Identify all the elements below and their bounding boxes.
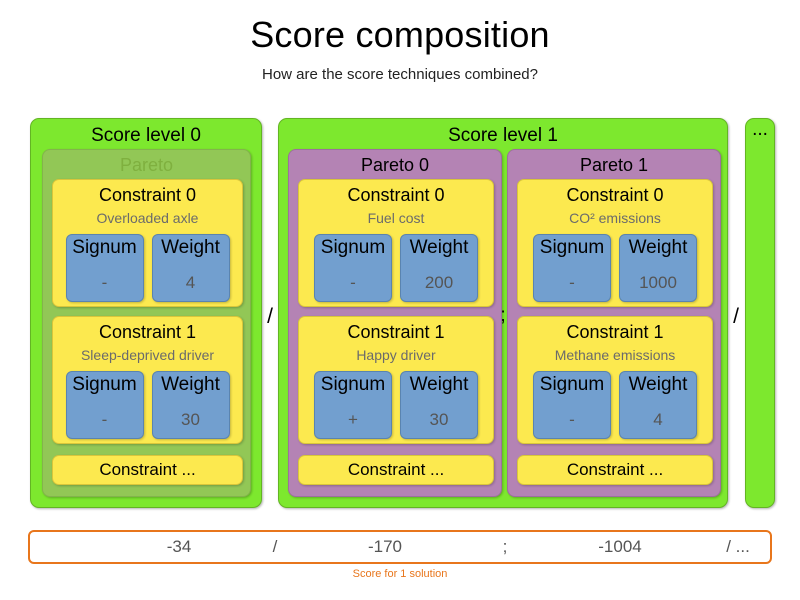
score-operator-1: / (255, 532, 295, 562)
pareto-group-title: Pareto (43, 150, 250, 177)
constraint-more-label: Constraint ... (518, 456, 712, 481)
weight-value: 30 (430, 410, 449, 430)
signum-chip[interactable]: Signum - (66, 234, 144, 302)
constraint-more-card[interactable]: Constraint ... (517, 455, 713, 485)
constraint-name: Constraint 0 (518, 180, 712, 206)
weight-chip[interactable]: Weight 30 (152, 371, 230, 439)
signum-label: Signum (72, 372, 136, 397)
constraint-description: CO² emissions (518, 206, 712, 227)
score-level-more-title: ... (746, 119, 774, 148)
level-separator-trailing: / (727, 305, 745, 329)
constraint-more-label: Constraint ... (53, 456, 242, 481)
constraint-card[interactable]: Constraint 1 Methane emissions Signum - … (517, 316, 713, 444)
pareto-separator: ; (494, 305, 512, 327)
constraint-chips: Signum - Weight 4 (518, 371, 712, 439)
score-value-2: -1004 (560, 532, 680, 562)
weight-label: Weight (161, 372, 220, 397)
constraint-chips: Signum - Weight 4 (53, 234, 242, 302)
weight-label: Weight (410, 372, 469, 397)
signum-chip[interactable]: Signum - (533, 371, 611, 439)
constraint-name: Constraint 1 (53, 317, 242, 343)
constraint-name: Constraint 0 (299, 180, 493, 206)
pareto-group-0[interactable]: Pareto 0 Constraint 0 Fuel cost Signum -… (288, 149, 502, 497)
level-separator: / (261, 305, 279, 329)
constraint-more-label: Constraint ... (299, 456, 493, 481)
score-value-0: -34 (124, 532, 234, 562)
signum-value: - (350, 273, 356, 293)
constraint-description: Fuel cost (299, 206, 493, 227)
constraint-chips: Signum - Weight 200 (299, 234, 493, 302)
signum-value: - (102, 273, 108, 293)
constraint-name: Constraint 1 (299, 317, 493, 343)
page-title: Score composition (0, 14, 800, 56)
constraint-card[interactable]: Constraint 0 CO² emissions Signum - Weig… (517, 179, 713, 307)
score-level-1-title: Score level 1 (279, 119, 727, 148)
constraint-card[interactable]: Constraint 0 Overloaded axle Signum - We… (52, 179, 243, 307)
weight-value: 4 (653, 410, 662, 430)
signum-label: Signum (540, 372, 604, 397)
weight-chip[interactable]: Weight 200 (400, 234, 478, 302)
score-operator-2: ; (490, 532, 520, 562)
signum-value: - (102, 410, 108, 430)
weight-chip[interactable]: Weight 4 (152, 234, 230, 302)
constraint-name: Constraint 0 (53, 180, 242, 206)
score-bar-caption: Score for 1 solution (0, 568, 800, 580)
pareto-group-1[interactable]: Pareto 1 Constraint 0 CO² emissions Sign… (507, 149, 721, 497)
constraint-description: Happy driver (299, 343, 493, 364)
weight-value: 200 (425, 273, 453, 293)
constraint-chips: Signum - Weight 30 (53, 371, 242, 439)
signum-chip[interactable]: Signum - (66, 371, 144, 439)
signum-value: - (569, 273, 575, 293)
weight-label: Weight (410, 235, 469, 260)
score-bar[interactable]: -34 / -170 ; -1004 / ... (28, 530, 772, 564)
signum-value: + (348, 410, 358, 430)
pareto-group-disabled[interactable]: Pareto Constraint 0 Overloaded axle Sign… (42, 149, 251, 497)
signum-chip[interactable]: Signum - (533, 234, 611, 302)
weight-chip[interactable]: Weight 1000 (619, 234, 697, 302)
weight-label: Weight (629, 372, 688, 397)
constraint-more-card[interactable]: Constraint ... (52, 455, 243, 485)
weight-value: 30 (181, 410, 200, 430)
signum-label: Signum (321, 372, 385, 397)
constraint-description: Overloaded axle (53, 206, 242, 227)
constraint-chips: Signum + Weight 30 (299, 371, 493, 439)
signum-label: Signum (72, 235, 136, 260)
signum-label: Signum (321, 235, 385, 260)
pareto-group-title: Pareto 1 (508, 150, 720, 177)
weight-value: 1000 (639, 273, 677, 293)
score-level-0-panel[interactable]: Score level 0 Pareto Constraint 0 Overlo… (30, 118, 262, 508)
constraint-card[interactable]: Constraint 1 Sleep-deprived driver Signu… (52, 316, 243, 444)
signum-label: Signum (540, 235, 604, 260)
score-value-1: -170 (330, 532, 440, 562)
weight-label: Weight (629, 235, 688, 260)
weight-chip[interactable]: Weight 30 (400, 371, 478, 439)
signum-chip[interactable]: Signum - (314, 234, 392, 302)
signum-chip[interactable]: Signum + (314, 371, 392, 439)
signum-value: - (569, 410, 575, 430)
score-level-more-panel[interactable]: ... (745, 118, 775, 508)
constraint-description: Sleep-deprived driver (53, 343, 242, 364)
diagram-canvas: Score composition How are the score tech… (0, 0, 800, 600)
weight-label: Weight (161, 235, 220, 260)
weight-chip[interactable]: Weight 4 (619, 371, 697, 439)
constraint-card[interactable]: Constraint 1 Happy driver Signum + Weigh… (298, 316, 494, 444)
score-level-0-title: Score level 0 (31, 119, 261, 148)
constraint-card[interactable]: Constraint 0 Fuel cost Signum - Weight 2… (298, 179, 494, 307)
pareto-group-title: Pareto 0 (289, 150, 501, 177)
constraint-more-card[interactable]: Constraint ... (298, 455, 494, 485)
constraint-description: Methane emissions (518, 343, 712, 364)
constraint-name: Constraint 1 (518, 317, 712, 343)
page-subtitle: How are the score techniques combined? (0, 66, 800, 83)
score-operator-3: / ... (708, 532, 768, 562)
constraint-chips: Signum - Weight 1000 (518, 234, 712, 302)
weight-value: 4 (186, 273, 195, 293)
